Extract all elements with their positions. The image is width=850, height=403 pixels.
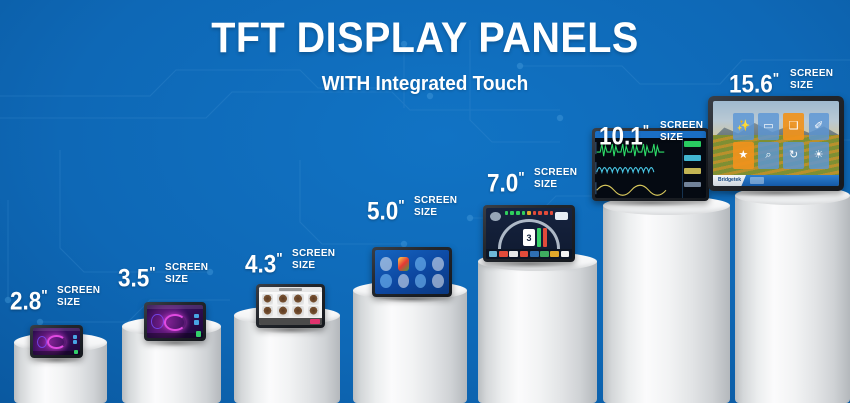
status-tile — [73, 335, 77, 339]
caption-line-2: SIZE — [534, 179, 577, 191]
screen-art-purple-dashboard — [147, 305, 203, 338]
size-label-7-0: 7.0" SCREEN SIZE — [487, 165, 579, 196]
led — [522, 211, 526, 216]
app-icon[interactable] — [380, 257, 392, 271]
screen-topbar — [147, 305, 203, 309]
size-value: 10.1" — [599, 118, 649, 149]
size-value: 5.0" — [367, 193, 405, 224]
status-icon — [499, 251, 508, 258]
caption-line-2: SIZE — [165, 274, 208, 286]
size-label-4-3: 4.3" SCREEN SIZE — [245, 246, 337, 277]
led — [505, 211, 509, 216]
temp-bar — [543, 228, 547, 246]
size-value: 7.0" — [487, 165, 525, 196]
beverage-item[interactable] — [308, 306, 320, 317]
status-icon — [561, 251, 570, 258]
size-caption: SCREEN SIZE — [534, 165, 577, 190]
secondary-gauge-ring — [37, 336, 47, 348]
cluster-badge-icon — [490, 212, 500, 221]
vital-value — [684, 155, 700, 161]
led — [527, 211, 531, 216]
header-title-placeholder — [279, 288, 302, 290]
screen-art-purple-dashboard — [33, 328, 80, 355]
start-button[interactable]: Bridgetek — [713, 175, 746, 186]
caption-line-1: SCREEN — [292, 248, 335, 260]
page-subtitle: WITH Integrated Touch — [21, 71, 829, 97]
brightness-icon[interactable]: ☀ — [809, 142, 829, 169]
image-icon[interactable]: ❑ — [783, 113, 803, 140]
device-panel-4-3[interactable] — [256, 284, 325, 328]
device-bezel: ✨ ▭ ❑ ✐ ★ ⌕ ↻ ☀ Bridgetek — [708, 96, 844, 191]
brush-icon[interactable]: ✐ — [809, 113, 829, 140]
display-icon[interactable]: ▭ — [758, 113, 778, 140]
beverage-item[interactable] — [292, 306, 304, 317]
app-icon-grid — [380, 257, 444, 288]
status-icon — [530, 251, 539, 258]
beverage-item[interactable] — [292, 294, 304, 305]
screen-header-bar — [259, 287, 322, 292]
app-icon[interactable] — [432, 257, 444, 271]
size-value: 2.8" — [10, 283, 48, 314]
gauge-ring — [164, 314, 186, 331]
pedestal-15-6 — [735, 186, 850, 403]
app-icon[interactable] — [432, 274, 444, 288]
fuel-bar — [537, 228, 541, 246]
magic-wand-icon[interactable]: ✨ — [733, 113, 753, 140]
taskbar-item[interactable] — [750, 177, 764, 184]
device-screen[interactable]: ✨ ▭ ❑ ✐ ★ ⌕ ↻ ☀ Bridgetek — [713, 101, 839, 186]
status-icon — [489, 251, 498, 258]
status-tile — [194, 314, 199, 319]
screen-art-android-home — [375, 250, 449, 294]
size-caption: SCREEN SIZE — [414, 193, 457, 218]
screen-art-desktop: ✨ ▭ ❑ ✐ ★ ⌕ ↻ ☀ Bridgetek — [713, 101, 839, 186]
size-caption: SCREEN SIZE — [57, 283, 100, 308]
device-panel-2-8[interactable] — [30, 325, 83, 358]
device-panel-5-0[interactable] — [372, 247, 452, 297]
vital-value — [684, 182, 700, 186]
device-screen[interactable] — [375, 250, 449, 294]
pedestal-10-1 — [603, 196, 730, 403]
pedestal-body — [603, 205, 730, 403]
device-bezel — [30, 325, 83, 358]
device-panel-7-0[interactable]: 3 — [483, 205, 575, 262]
caption-line-1: SCREEN — [660, 120, 703, 132]
pedestal-body — [735, 195, 850, 403]
beverage-item[interactable] — [277, 294, 289, 305]
size-label-2-8: 2.8" SCREEN SIZE — [10, 283, 102, 314]
status-icon — [540, 251, 549, 258]
beverage-item[interactable] — [308, 294, 320, 305]
pedestal-body — [353, 290, 467, 403]
device-bezel — [256, 284, 325, 328]
size-label-5-0: 5.0" SCREEN SIZE — [367, 193, 459, 224]
caption-line-2: SIZE — [292, 260, 335, 272]
desktop-icon-grid: ✨ ▭ ❑ ✐ ★ ⌕ ↻ ☀ — [733, 113, 829, 169]
led — [510, 211, 514, 216]
device-bezel: 3 — [483, 205, 575, 262]
screen-bottombar — [147, 333, 203, 338]
caption-line-1: SCREEN — [57, 285, 100, 297]
desktop-taskbar: Bridgetek — [713, 175, 839, 186]
caption-line-2: SIZE — [57, 297, 100, 309]
gauge-ring — [47, 335, 66, 349]
header-block: TFT DISPLAY PANELS WITH Integrated Touch — [0, 14, 850, 97]
gear-indicator: 3 — [523, 229, 535, 245]
screen-footer-bar — [259, 318, 322, 325]
infographic-canvas: TFT DISPLAY PANELS WITH Integrated Touch — [0, 0, 850, 403]
beverage-item[interactable] — [262, 294, 274, 305]
pedestal-7-0 — [478, 252, 597, 403]
vital-value — [684, 168, 700, 174]
led — [544, 211, 548, 216]
screen-bottombar — [33, 351, 80, 355]
beverage-grid — [262, 294, 320, 317]
shift-light-strip — [505, 211, 553, 216]
led — [538, 211, 542, 216]
star-icon[interactable]: ★ — [733, 142, 753, 169]
status-tile — [194, 320, 199, 325]
screen-topbar — [33, 328, 80, 331]
status-tile — [73, 340, 77, 344]
caption-line-2: SIZE — [660, 132, 703, 144]
status-icon — [509, 251, 518, 258]
size-label-10-1: 10.1" SCREEN SIZE — [599, 118, 705, 149]
size-value: 3.5" — [118, 260, 156, 291]
size-caption: SCREEN SIZE — [660, 118, 703, 143]
caption-line-2: SIZE — [414, 207, 457, 219]
app-icon[interactable] — [398, 274, 410, 288]
size-caption: SCREEN SIZE — [165, 260, 208, 285]
cluster-status-bar — [486, 249, 572, 259]
status-indicator — [196, 331, 201, 336]
caption-line-1: SCREEN — [414, 195, 457, 207]
beverage-item[interactable] — [277, 306, 289, 317]
pedestal-body — [478, 261, 597, 403]
status-icon — [520, 251, 529, 258]
led — [516, 211, 520, 216]
footer-action-button[interactable] — [310, 319, 320, 324]
caption-line-1: SCREEN — [165, 262, 208, 274]
device-panel-3-5[interactable] — [144, 302, 206, 341]
screen-art-car-cluster: 3 — [486, 208, 572, 259]
device-screen[interactable]: 3 — [486, 208, 572, 259]
size-label-3-5: 3.5" SCREEN SIZE — [118, 260, 210, 291]
device-screen[interactable] — [259, 287, 322, 325]
status-indicator — [74, 350, 78, 354]
size-caption: SCREEN SIZE — [292, 246, 335, 271]
led — [550, 211, 554, 216]
caption-line-1: SCREEN — [534, 167, 577, 179]
page-title: TFT DISPLAY PANELS — [34, 14, 816, 62]
app-icon[interactable] — [380, 274, 392, 288]
app-icon[interactable] — [415, 257, 427, 271]
secondary-gauge-ring — [151, 314, 163, 329]
device-bezel — [144, 302, 206, 341]
led — [533, 211, 537, 216]
app-icon[interactable] — [398, 257, 410, 271]
search-icon[interactable]: ⌕ — [758, 142, 778, 169]
device-screen[interactable] — [147, 305, 203, 338]
refresh-icon[interactable]: ↻ — [783, 142, 803, 169]
device-bezel — [372, 247, 452, 297]
size-value: 4.3" — [245, 246, 283, 277]
device-screen[interactable] — [33, 328, 80, 355]
app-icon[interactable] — [415, 274, 427, 288]
beverage-item[interactable] — [262, 306, 274, 317]
status-icon — [550, 251, 559, 258]
device-panel-15-6[interactable]: ✨ ▭ ❑ ✐ ★ ⌕ ↻ ☀ Bridgetek — [708, 96, 844, 191]
vehicle-icon — [555, 212, 568, 220]
screen-art-coffee-menu — [259, 287, 322, 325]
